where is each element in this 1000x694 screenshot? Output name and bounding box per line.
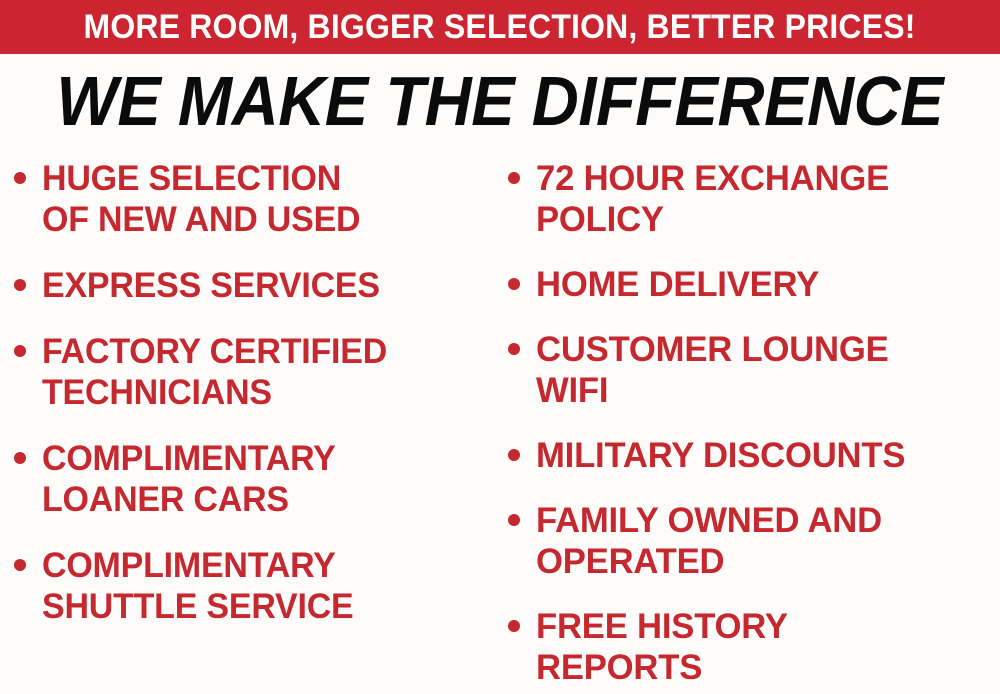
list-item: COMPLIMENTARY LOANER CARS (14, 438, 500, 520)
list-item: MILITARY DISCOUNTS (508, 435, 1000, 476)
list-item-label: FAMILY OWNED AND OPERATED (536, 500, 995, 582)
bullet-dot-icon (14, 345, 26, 357)
main-headline: WE MAKE THE DIFFERENCE (0, 66, 1000, 136)
dealership-promo-poster: MORE ROOM, BIGGER SELECTION, BETTER PRIC… (0, 0, 1000, 694)
list-item-label: 72 HOUR EXCHANGE POLICY (536, 158, 995, 240)
top-banner: MORE ROOM, BIGGER SELECTION, BETTER PRIC… (0, 0, 1000, 54)
list-item-label: FACTORY CERTIFIED TECHNICIANS (42, 331, 486, 413)
features-left-column: HUGE SELECTION OF NEW AND USED EXPRESS S… (14, 158, 500, 652)
list-item-label: HOME DELIVERY (536, 264, 995, 305)
list-item: COMPLIMENTARY SHUTTLE SERVICE (14, 545, 500, 627)
bullet-dot-icon (14, 172, 26, 184)
features-columns: HUGE SELECTION OF NEW AND USED EXPRESS S… (0, 158, 1000, 694)
list-item: FAMILY OWNED AND OPERATED (508, 500, 1000, 582)
bullet-dot-icon (14, 279, 26, 291)
bullet-dot-icon (508, 514, 520, 526)
list-item-label: FREE HISTORY REPORTS (536, 606, 995, 688)
bullet-dot-icon (508, 343, 520, 355)
list-item: FREE HISTORY REPORTS (508, 606, 1000, 688)
list-item-label: CUSTOMER LOUNGE WIFI (536, 329, 995, 411)
list-item-label: HUGE SELECTION OF NEW AND USED (42, 158, 486, 240)
bullet-dot-icon (14, 559, 26, 571)
bullet-dot-icon (508, 449, 520, 461)
list-item-label: MILITARY DISCOUNTS (536, 435, 995, 476)
list-item-label: COMPLIMENTARY SHUTTLE SERVICE (42, 545, 486, 627)
list-item: EXPRESS SERVICES (14, 265, 500, 306)
list-item: HUGE SELECTION OF NEW AND USED (14, 158, 500, 240)
features-right-column: 72 HOUR EXCHANGE POLICY HOME DELIVERY CU… (508, 158, 1000, 694)
list-item: CUSTOMER LOUNGE WIFI (508, 329, 1000, 411)
bullet-dot-icon (14, 452, 26, 464)
bullet-dot-icon (508, 172, 520, 184)
list-item: 72 HOUR EXCHANGE POLICY (508, 158, 1000, 240)
bullet-dot-icon (508, 278, 520, 290)
list-item: HOME DELIVERY (508, 264, 1000, 305)
headline-text: WE MAKE THE DIFFERENCE (57, 66, 944, 136)
list-item: FACTORY CERTIFIED TECHNICIANS (14, 331, 500, 413)
list-item-label: COMPLIMENTARY LOANER CARS (42, 438, 486, 520)
banner-headline: MORE ROOM, BIGGER SELECTION, BETTER PRIC… (84, 10, 916, 44)
list-item-label: EXPRESS SERVICES (42, 265, 486, 306)
bullet-dot-icon (508, 620, 520, 632)
